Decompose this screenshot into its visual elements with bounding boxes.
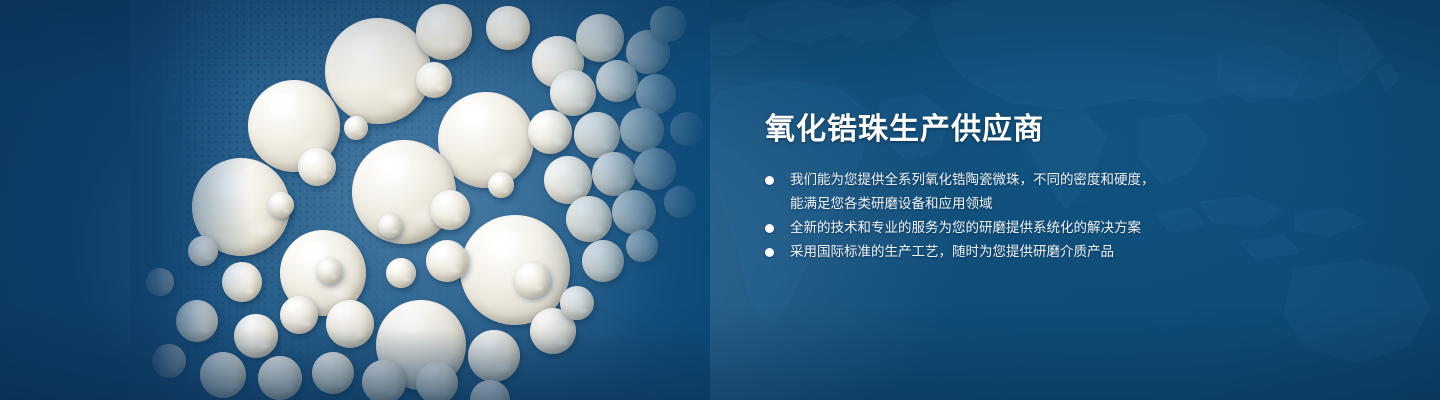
banner-text-column: 氧化锆珠生产供应商 我们能为您提供全系列氧化锆陶瓷微珠，不同的密度和硬度， 能满… bbox=[765, 0, 1325, 400]
list-item: 采用国际标准的生产工艺，随时为您提供研磨介质产品 bbox=[765, 240, 1235, 264]
list-item: 我们能为您提供全系列氧化锆陶瓷微珠，不同的密度和硬度， 能满足您各类研磨设备和应… bbox=[765, 168, 1235, 216]
banner-feature-list: 我们能为您提供全系列氧化锆陶瓷微珠，不同的密度和硬度， 能满足您各类研磨设备和应… bbox=[765, 168, 1235, 264]
bullet-line-1: 采用国际标准的生产工艺，随时为您提供研磨介质产品 bbox=[790, 244, 1114, 259]
bullet-dot-icon bbox=[765, 224, 774, 233]
bullet-dot-icon bbox=[765, 176, 774, 185]
bullet-dot-icon bbox=[765, 248, 774, 257]
bullet-line-2: 能满足您各类研磨设备和应用领域 bbox=[790, 192, 1235, 216]
banner-headline: 氧化锆珠生产供应商 bbox=[765, 112, 1044, 148]
bullet-line-1: 全新的技术和专业的服务为您的研磨提供系统化的解决方案 bbox=[790, 220, 1141, 235]
bullet-line-1: 我们能为您提供全系列氧化锆陶瓷微珠，不同的密度和硬度， bbox=[790, 172, 1155, 187]
list-item: 全新的技术和专业的服务为您的研磨提供系统化的解决方案 bbox=[765, 216, 1235, 240]
hero-banner: 氧化锆珠生产供应商 我们能为您提供全系列氧化锆陶瓷微珠，不同的密度和硬度， 能满… bbox=[0, 0, 1440, 400]
